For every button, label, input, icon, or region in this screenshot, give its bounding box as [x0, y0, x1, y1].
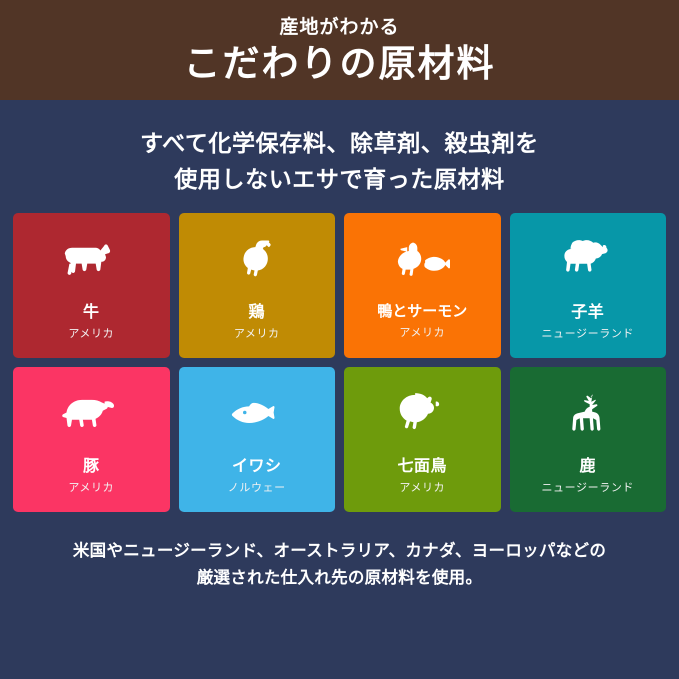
- sheep-icon: [514, 227, 663, 289]
- ingredient-name: 豚: [83, 457, 100, 476]
- turkey-icon: [348, 381, 497, 443]
- cow-icon: [17, 227, 166, 289]
- ingredient-name: 鹿: [579, 457, 596, 476]
- ingredient-name: 七面鳥: [397, 457, 447, 476]
- ingredient-card-turkey[interactable]: 七面鳥 アメリカ: [344, 367, 501, 512]
- ingredient-name: イワシ: [232, 457, 282, 476]
- subtitle-line-1: すべて化学保存料、除草剤、殺虫剤を: [20, 126, 659, 162]
- ingredient-name: 鴨とサーモン: [377, 303, 467, 321]
- ingredient-card-venison[interactable]: 鹿 ニュージーランド: [510, 367, 667, 512]
- ingredient-origin: アメリカ: [234, 328, 280, 341]
- page-title: こだわりの原材料: [184, 43, 496, 84]
- chicken-icon: [183, 227, 332, 289]
- pig-icon: [17, 381, 166, 443]
- ingredient-origin: アメリカ: [68, 482, 114, 495]
- ingredient-card-sardine[interactable]: イワシ ノルウェー: [179, 367, 336, 512]
- ingredient-card-lamb[interactable]: 子羊 ニュージーランド: [510, 213, 667, 358]
- ingredient-origin: ニュージーランド: [541, 482, 634, 495]
- header-banner: 産地がわかる こだわりの原材料: [0, 0, 679, 100]
- ingredient-name: 子羊: [571, 303, 604, 322]
- duck-salmon-icon: [348, 227, 497, 289]
- ingredient-card-beef[interactable]: 牛 アメリカ: [13, 213, 170, 358]
- subtitle-line-2: 使用しないエサで育った原材料: [20, 162, 659, 198]
- ingredient-origin: ノルウェー: [228, 482, 286, 495]
- subtitle-block: すべて化学保存料、除草剤、殺虫剤を 使用しないエサで育った原材料: [0, 100, 679, 213]
- infographic-page: 産地がわかる こだわりの原材料 すべて化学保存料、除草剤、殺虫剤を 使用しないエ…: [0, 0, 679, 679]
- ingredient-origin: アメリカ: [399, 482, 445, 495]
- ingredient-origin: ニュージーランド: [541, 328, 634, 341]
- ingredient-card-pork[interactable]: 豚 アメリカ: [13, 367, 170, 512]
- ingredient-name: 牛: [83, 303, 100, 322]
- footer-note: 米国やニュージーランド、オーストラリア、カナダ、ヨーロッパなどの 厳選された仕入…: [0, 512, 679, 679]
- sardine-icon: [183, 381, 332, 443]
- ingredient-origin: アメリカ: [399, 327, 445, 340]
- ingredient-card-chicken[interactable]: 鶏 アメリカ: [179, 213, 336, 358]
- footer-line-2: 厳選された仕入れ先の原材料を使用。: [197, 565, 483, 591]
- deer-icon: [514, 381, 663, 443]
- footer-line-1: 米国やニュージーランド、オーストラリア、カナダ、ヨーロッパなどの: [73, 538, 606, 564]
- ingredient-card-duck-salmon[interactable]: 鴨とサーモン アメリカ: [344, 213, 501, 358]
- ingredient-origin: アメリカ: [68, 328, 114, 341]
- ingredient-grid: 牛 アメリカ 鶏 アメリカ 鴨とサーモン: [0, 213, 679, 512]
- header-kicker: 産地がわかる: [279, 18, 399, 39]
- ingredient-name: 鶏: [248, 303, 265, 322]
